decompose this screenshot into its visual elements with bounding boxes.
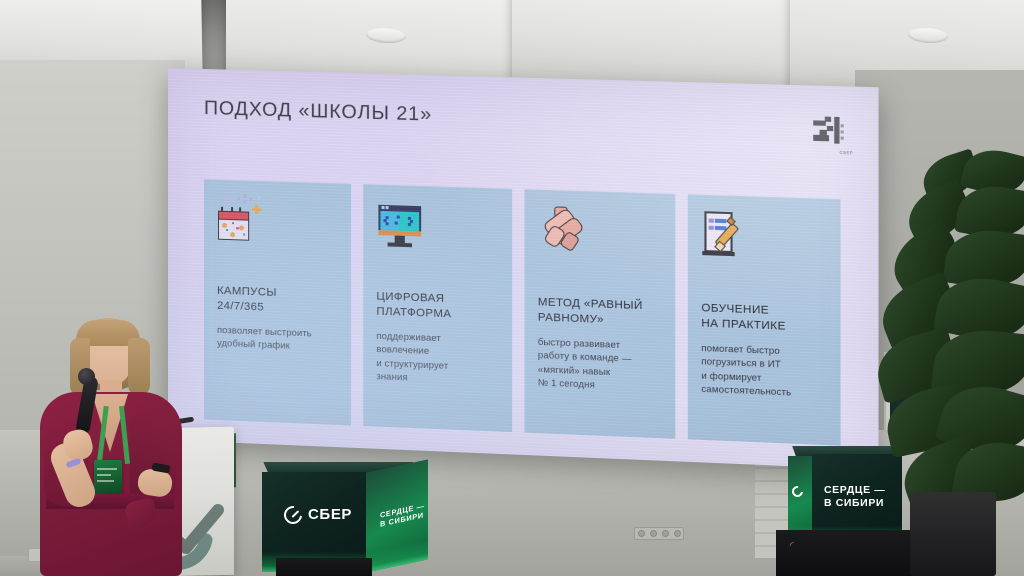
cube-stand-logo: ◜ (790, 540, 794, 551)
document-pencil-icon (701, 209, 751, 260)
socket-outlet (662, 530, 669, 537)
school-21-logo-subtitle: СБЕР (840, 150, 854, 156)
socket-outlet (674, 530, 681, 537)
card-heading: ЦИФРОВАЯ ПЛАТФОРМА (376, 289, 498, 324)
card-heading: МЕТОД «РАВНЫЙ РАВНОМУ» (538, 295, 662, 330)
card-body: позволяет выстроить удобный график (217, 323, 338, 354)
socket-outlet (638, 530, 645, 537)
projection-screen: ПОДХОД «ШКОЛЫ 21» СБЕР (168, 68, 879, 470)
wall-socket-strip (634, 527, 684, 540)
cube-brand-text: СБЕР (308, 506, 352, 525)
conference-room-scene: ПОДХОД «ШКОЛЫ 21» СБЕР (0, 0, 1024, 576)
card-body: помогает быстро погрузиться в ИТ и форми… (701, 341, 827, 400)
ceiling-speaker-icon (908, 27, 948, 44)
slide-title: ПОДХОД «ШКОЛЫ 21» (204, 97, 432, 127)
calendar-icon (217, 194, 265, 244)
school-21-logo-icon (813, 116, 849, 152)
cube-gradient-strip (366, 539, 428, 572)
speaker-person (34, 318, 186, 576)
card-digital-platform: ЦИФРОВАЯ ПЛАТФОРМА поддерживает вовлечен… (363, 184, 512, 432)
socket-outlet (650, 530, 657, 537)
ceiling-speaker-icon (366, 27, 406, 44)
card-heading: ОБУЧЕНИЕ НА ПРАКТИКЕ (701, 301, 827, 336)
cube-stand (276, 558, 372, 576)
card-practice-learning: ОБУЧЕНИЕ НА ПРАКТИКЕ помогает быстро пог… (688, 194, 841, 445)
card-heading: КАМПУСЫ 24/7/365 (217, 284, 338, 318)
monitor-code-icon (376, 199, 425, 249)
card-peer-to-peer: МЕТОД «РАВНЫЙ РАВНОМУ» быстро развивает … (524, 189, 675, 439)
handshake-icon (538, 204, 587, 254)
card-body: быстро развивает работу в команде — «мяг… (538, 335, 662, 394)
hair-right (128, 338, 150, 396)
ficus-plant (876, 150, 1024, 550)
slide-cards: КАМПУСЫ 24/7/365 позволяет выстроить удо… (204, 179, 841, 445)
card-body: поддерживает вовлечение и структурирует … (376, 329, 498, 388)
plant-pot (910, 492, 996, 576)
card-campuses: КАМПУСЫ 24/7/365 позволяет выстроить удо… (204, 179, 351, 425)
slide-surface: ПОДХОД «ШКОЛЫ 21» СБЕР (168, 68, 879, 470)
